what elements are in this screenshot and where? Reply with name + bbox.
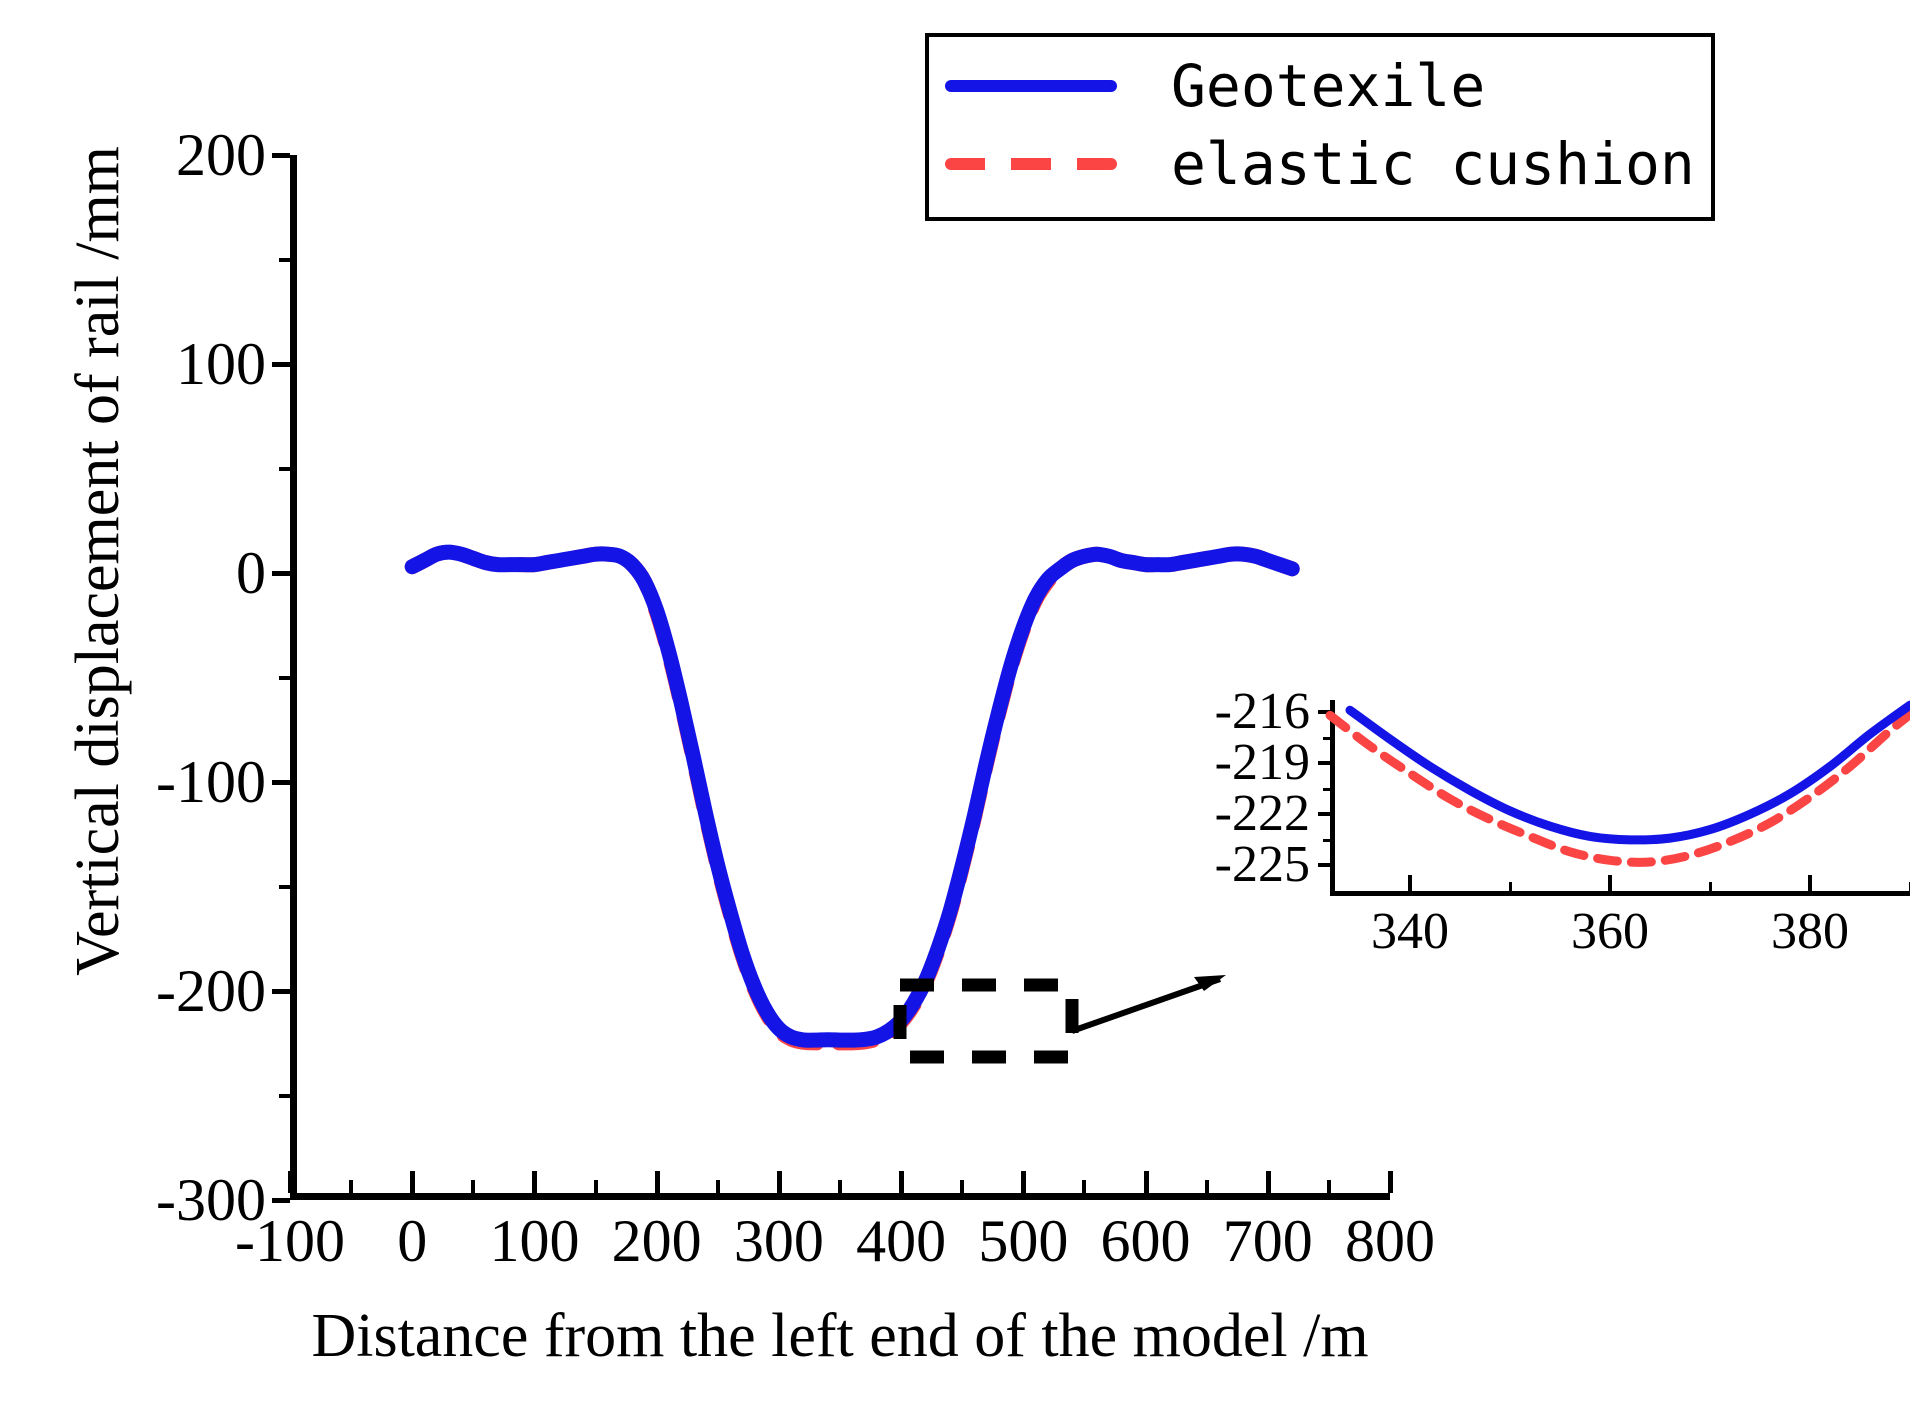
y-axis-line: [290, 155, 297, 1200]
x-tick-400: [899, 1171, 904, 1193]
x-tick-0: [410, 1171, 415, 1193]
y-minor-tick: [279, 258, 290, 262]
x-minor-tick: [1205, 1180, 1209, 1193]
legend-swatch-solid-line: [945, 80, 1117, 92]
x-minor-tick: [716, 1180, 720, 1193]
data-curves: [290, 155, 1390, 1200]
x-tick--100: [288, 1171, 293, 1193]
legend-item-geotexile: Geotexile: [945, 47, 1695, 125]
x-tick-700: [1266, 1171, 1271, 1193]
legend-swatch-dashed-line: [945, 158, 1117, 170]
y-tick--100: [272, 780, 290, 785]
y-tick-label--200: -200: [6, 961, 266, 1021]
y-tick-label-200: 200: [6, 125, 266, 185]
x-tick-500: [1021, 1171, 1026, 1193]
x-tick-200: [655, 1171, 660, 1193]
chart-canvas: Vertical displacement of rail /mm Distan…: [0, 0, 1910, 1419]
y-tick-label-0: 0: [6, 543, 266, 603]
legend-label-elastic-cushion: elastic cushion: [1171, 135, 1695, 193]
x-axis-line: [290, 1193, 1390, 1200]
x-minor-tick: [1082, 1180, 1086, 1193]
main-plot-area: 2001000-100-200-300 -1000100200300400500…: [290, 155, 1390, 1200]
y-minor-tick: [279, 676, 290, 680]
x-minor-tick: [960, 1180, 964, 1193]
x-tick-label-800: 800: [1260, 1211, 1520, 1271]
legend: Geotexile elastic cushion: [925, 33, 1715, 221]
x-tick-600: [1144, 1171, 1149, 1193]
x-minor-tick: [1327, 1180, 1331, 1193]
y-tick-0: [272, 571, 290, 576]
y-tick-label--100: -100: [6, 752, 266, 812]
y-minor-tick: [279, 885, 290, 889]
x-tick-100: [532, 1171, 537, 1193]
y-tick-label-100: 100: [6, 334, 266, 394]
legend-label-geotexile: Geotexile: [1171, 57, 1485, 115]
x-tick-800: [1388, 1171, 1393, 1193]
inset-series-geotexile: [1350, 705, 1910, 840]
x-minor-tick: [349, 1180, 353, 1193]
x-minor-tick: [471, 1180, 475, 1193]
x-tick-300: [777, 1171, 782, 1193]
y-tick-200: [272, 153, 290, 158]
x-minor-tick: [838, 1180, 842, 1193]
y-tick-100: [272, 362, 290, 367]
y-minor-tick: [279, 467, 290, 471]
inset-data-curves: [1240, 700, 1910, 1100]
x-axis-title: Distance from the left end of the model …: [130, 1305, 1550, 1367]
y-minor-tick: [279, 1094, 290, 1098]
legend-item-elastic-cushion: elastic cushion: [945, 125, 1695, 203]
inset-plot-area: -216-219-222-225 340360380: [1240, 700, 1910, 1100]
y-tick--300: [272, 1198, 290, 1203]
x-minor-tick: [594, 1180, 598, 1193]
y-tick--200: [272, 989, 290, 994]
